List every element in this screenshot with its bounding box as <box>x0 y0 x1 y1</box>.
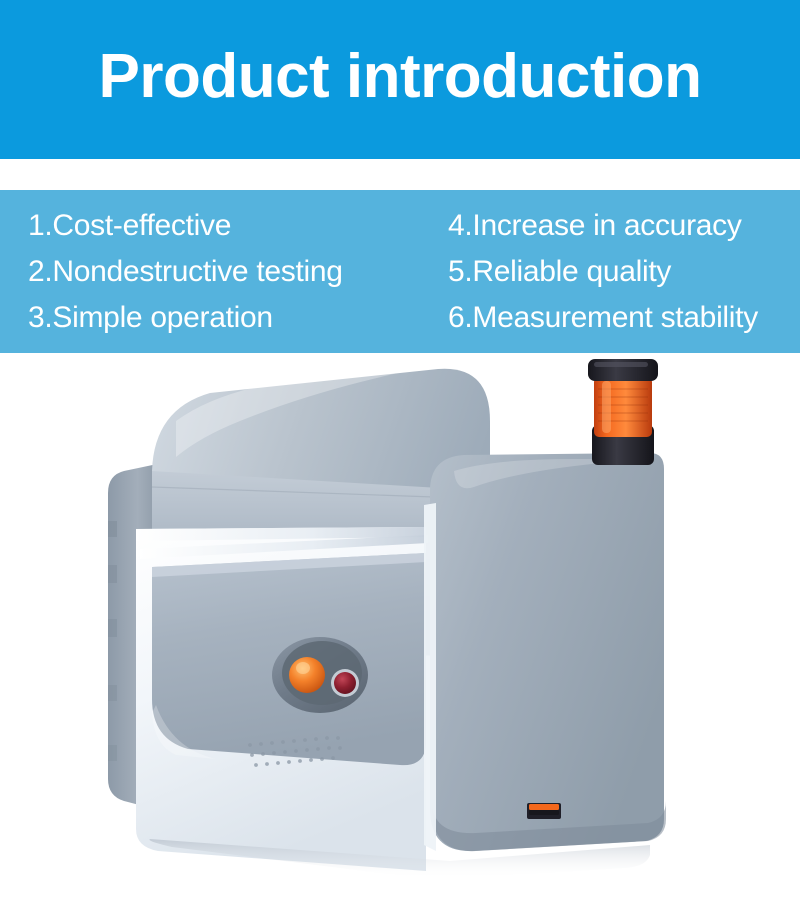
product-illustration <box>0 353 800 898</box>
power-button[interactable] <box>289 657 325 693</box>
signal-beacon <box>588 359 658 465</box>
feature-column-right: 4.Increase in accuracy 5.Reliable qualit… <box>448 203 800 341</box>
feature-item-2: 2.Nondestructive testing <box>28 249 448 295</box>
body-seam-strip <box>424 503 436 851</box>
indicator-strip <box>527 803 561 819</box>
feature-item-5: 5.Reliable quality <box>448 249 800 295</box>
feature-item-4: 4.Increase in accuracy <box>448 203 800 249</box>
feature-item-3: 3.Simple operation <box>28 295 448 341</box>
page-title: Product introduction <box>98 46 701 108</box>
feature-column-left: 1.Cost-effective 2.Nondestructive testin… <box>0 203 448 341</box>
machine-right-panel <box>430 453 666 851</box>
header-banner: Product introduction <box>0 0 800 159</box>
control-button-assembly[interactable] <box>272 637 368 713</box>
product-photo <box>0 353 800 898</box>
stop-button[interactable] <box>334 672 356 694</box>
features-band: 1.Cost-effective 2.Nondestructive testin… <box>0 190 800 353</box>
feature-item-6: 6.Measurement stability <box>448 295 800 341</box>
feature-item-1: 1.Cost-effective <box>28 203 448 249</box>
